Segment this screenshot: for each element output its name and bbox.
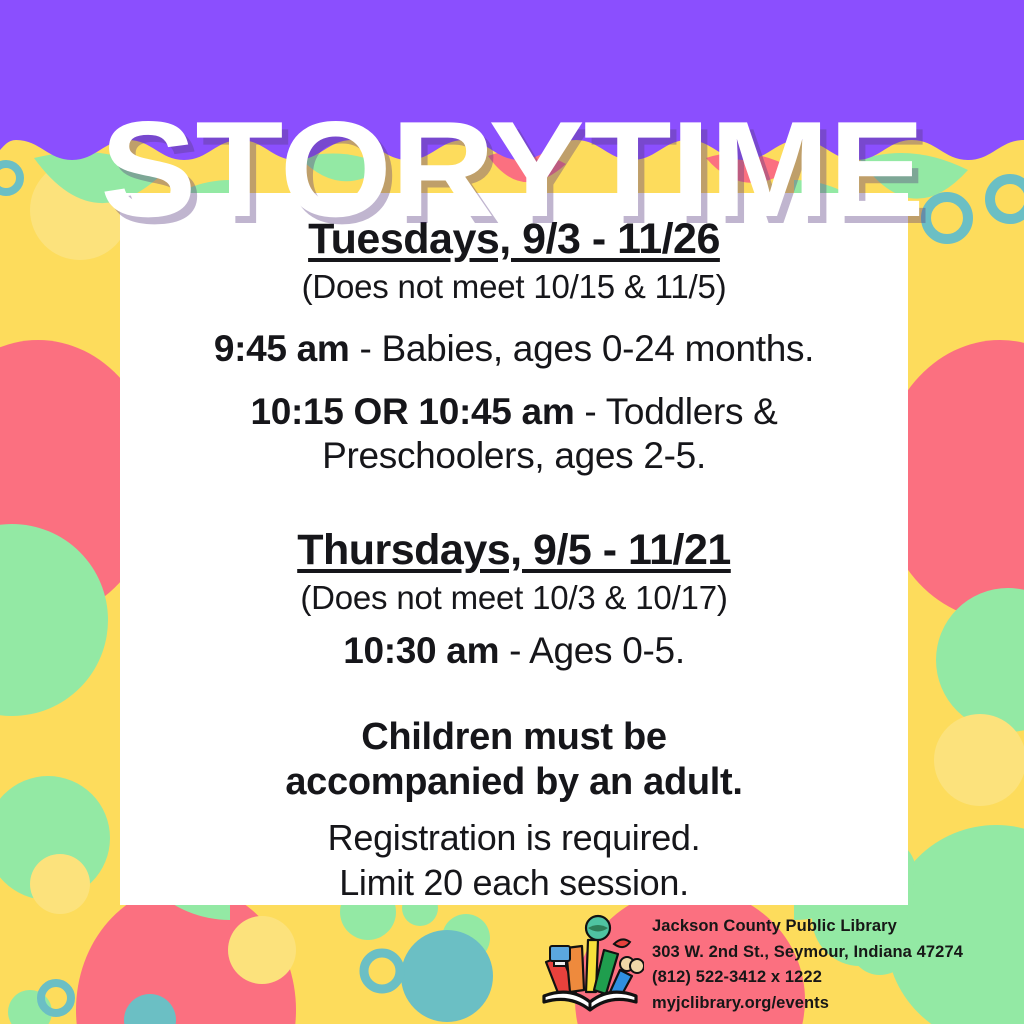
yellow-bubble-b xyxy=(934,714,1024,806)
page-title: STORYTIME xyxy=(0,91,1024,246)
notice-line-3: Registration is required. xyxy=(146,816,882,859)
yellow-bubble-c xyxy=(30,854,90,914)
thursday-session-1-time: 10:30 am xyxy=(343,630,499,671)
tuesday-session-2-time: 10:15 OR 10:45 am xyxy=(250,391,574,432)
yellow-bubble-d xyxy=(228,916,296,984)
thursday-exception-note: (Does not meet 10/3 & 10/17) xyxy=(146,578,882,618)
tuesday-schedule-block: Tuesdays, 9/3 - 11/26 (Does not meet 10/… xyxy=(146,215,882,478)
thursday-session-1-detail: - Ages 0-5. xyxy=(499,630,685,671)
open-book-logo xyxy=(536,910,644,1014)
thursday-heading: Thursdays, 9/5 - 11/21 xyxy=(146,526,882,574)
thursday-session-1: 10:30 am - Ages 0-5. xyxy=(146,629,882,673)
thursday-schedule-block: Thursdays, 9/5 - 11/21 (Does not meet 10… xyxy=(146,526,882,673)
footer-contact-block: Jackson County Public Library 303 W. 2nd… xyxy=(536,908,1006,1020)
tuesday-session-1-time: 9:45 am xyxy=(214,328,350,369)
tuesday-session-2: 10:15 OR 10:45 am - Toddlers & Preschool… xyxy=(146,390,882,477)
notice-line-1: Children must be xyxy=(146,715,882,759)
teal-circle-bottom xyxy=(401,930,493,1022)
library-address: 303 W. 2nd St., Seymour, Indiana 47274 xyxy=(652,940,963,966)
schedule-card: Tuesdays, 9/3 - 11/26 (Does not meet 10/… xyxy=(120,193,908,905)
notice-block: Children must be accompanied by an adult… xyxy=(146,715,882,904)
library-website[interactable]: myjclibrary.org/events xyxy=(652,991,963,1017)
tuesday-session-1-detail: - Babies, ages 0-24 months. xyxy=(350,328,815,369)
library-name: Jackson County Public Library xyxy=(652,914,963,940)
storytime-poster: STORYTIME Tuesdays, 9/3 - 11/26 (Does no… xyxy=(0,0,1024,1024)
tuesday-exception-note: (Does not meet 10/15 & 11/5) xyxy=(146,267,882,307)
notice-line-4: Limit 20 each session. xyxy=(146,861,882,904)
library-phone: (812) 522-3412 x 1222 xyxy=(652,965,963,991)
footer-text-lines: Jackson County Public Library 303 W. 2nd… xyxy=(652,908,963,1016)
tuesday-session-1: 9:45 am - Babies, ages 0-24 months. xyxy=(146,327,882,371)
notice-line-2: accompanied by an adult. xyxy=(146,760,882,804)
